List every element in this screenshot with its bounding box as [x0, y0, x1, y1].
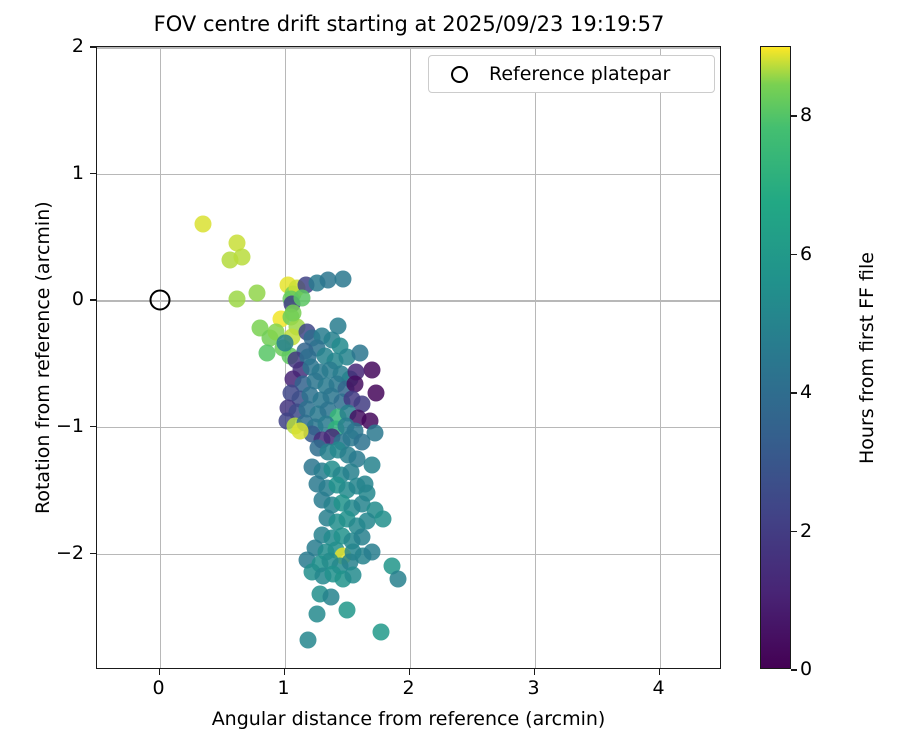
colorbar-tick-label: 2	[800, 520, 812, 542]
colorbar-tick-mark	[791, 669, 797, 671]
scatter-point	[234, 249, 251, 266]
gridline-horizontal	[97, 300, 720, 302]
scatter-point	[364, 456, 381, 473]
gridline-vertical	[410, 47, 412, 668]
scatter-point	[375, 511, 392, 528]
x-tick-mark	[159, 669, 161, 675]
x-tick-label: 2	[402, 677, 414, 699]
scatter-point	[364, 544, 381, 561]
scatter-point	[354, 529, 371, 546]
gridline-vertical	[160, 47, 162, 668]
plot-axes-area	[96, 46, 721, 669]
x-axis-label: Angular distance from reference (arcmin)	[96, 708, 721, 730]
scatter-point	[356, 475, 373, 492]
colorbar-label: Hours from first FF file	[856, 252, 878, 464]
open-circle-icon	[451, 66, 468, 83]
scatter-point	[345, 567, 362, 584]
colorbar-tick-label: 4	[800, 381, 812, 403]
scatter-point	[364, 361, 381, 378]
colorbar-gradient	[760, 46, 791, 669]
y-tick-label: 2	[72, 35, 84, 57]
scatter-point	[285, 304, 302, 321]
x-tick-mark	[659, 669, 661, 675]
scatter-point	[300, 631, 317, 648]
y-axis-label: Rotation from reference (arcmin)	[32, 201, 54, 514]
scatter-point	[339, 602, 356, 619]
colorbar-tick-label: 6	[800, 243, 812, 265]
gridline-vertical	[535, 47, 537, 668]
gridline-horizontal	[97, 174, 720, 176]
gridline-horizontal	[97, 47, 720, 49]
x-tick-label: 4	[652, 677, 664, 699]
scatter-point	[309, 606, 326, 623]
scatter-point	[390, 570, 407, 587]
y-tick-label: −2	[56, 542, 84, 564]
legend-marker-reference-platepar	[429, 66, 489, 83]
legend-label-reference-platepar: Reference platepar	[489, 63, 670, 85]
colorbar-tick-mark	[791, 254, 797, 256]
scatter-point	[367, 384, 384, 401]
gridline-vertical	[660, 47, 662, 668]
x-tick-mark	[284, 669, 286, 675]
scatter-point	[351, 345, 368, 362]
gridline-horizontal	[97, 554, 720, 556]
colorbar-tick-label: 0	[800, 658, 812, 680]
scatter-point	[276, 335, 293, 352]
scatter-point	[346, 375, 363, 392]
scatter-point	[229, 290, 246, 307]
scatter-point	[330, 317, 347, 334]
y-tick-label: −1	[56, 415, 84, 437]
x-tick-label: 1	[277, 677, 289, 699]
scatter-point	[195, 216, 212, 233]
legend-box: Reference platepar	[428, 55, 715, 93]
y-tick-mark	[90, 553, 96, 555]
y-tick-mark	[90, 426, 96, 428]
scatter-point	[372, 624, 389, 641]
y-tick-label: 1	[72, 162, 84, 184]
y-tick-label: 0	[72, 288, 84, 310]
y-tick-mark	[90, 299, 96, 301]
scatter-plot-figure: FOV centre drift starting at 2025/09/23 …	[0, 0, 900, 750]
scatter-point	[359, 512, 376, 529]
y-tick-mark	[90, 173, 96, 175]
y-tick-mark	[90, 46, 96, 48]
x-tick-mark	[409, 669, 411, 675]
scatter-point	[291, 422, 308, 439]
chart-title: FOV centre drift starting at 2025/09/23 …	[96, 12, 722, 36]
colorbar-tick-mark	[791, 531, 797, 533]
x-tick-mark	[534, 669, 536, 675]
scatter-point	[322, 588, 339, 605]
reference-platepar-marker	[149, 290, 170, 311]
scatter-point	[259, 345, 276, 362]
scatter-point	[249, 284, 266, 301]
scatter-point	[294, 289, 311, 306]
scatter-point	[335, 270, 352, 287]
gridline-horizontal	[97, 427, 720, 429]
x-tick-label: 0	[152, 677, 164, 699]
x-tick-label: 3	[527, 677, 539, 699]
colorbar-tick-mark	[791, 392, 797, 394]
colorbar-tick-mark	[791, 115, 797, 117]
colorbar-tick-label: 8	[800, 104, 812, 126]
scatter-point	[366, 425, 383, 442]
